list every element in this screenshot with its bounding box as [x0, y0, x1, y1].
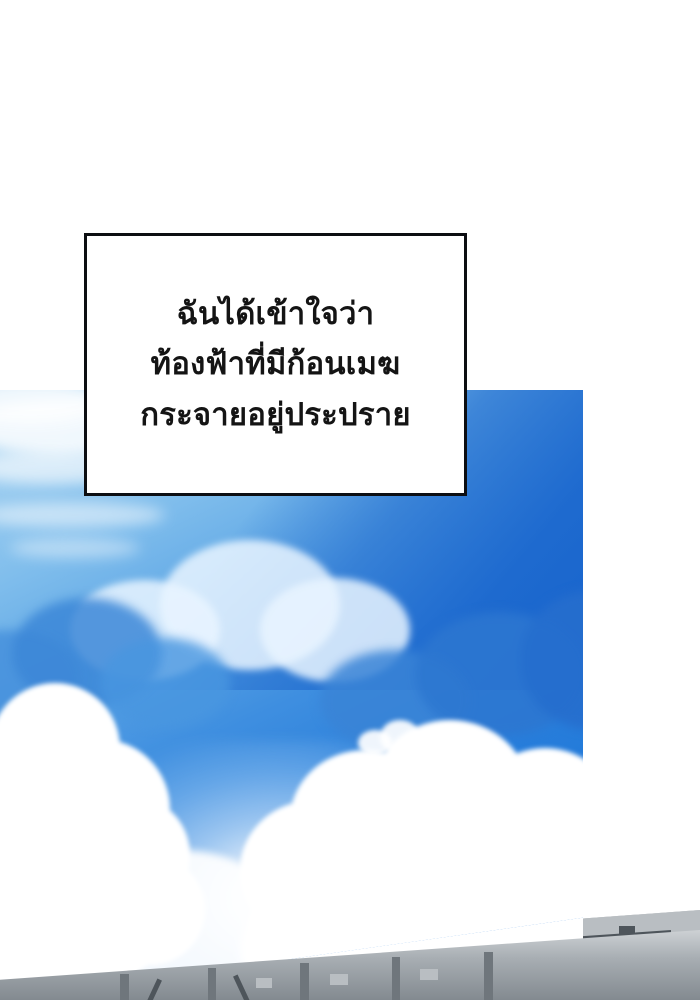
narration-text: ฉันได้เข้าใจว่า ท้องฟ้าที่มีก้อนเมฆ กระจ…	[140, 289, 410, 440]
construction-panel	[583, 900, 700, 1000]
small-cloud-puff	[430, 950, 520, 994]
vertical-column	[607, 940, 616, 1000]
construction-artwork	[583, 900, 700, 1000]
small-cloud-puff	[8, 938, 128, 978]
cloud-puff-bottom-right	[455, 975, 583, 1000]
narration-line-3: กระจายอยู่ประปราย	[140, 390, 410, 440]
horizontal-beam	[583, 940, 700, 959]
wall-section	[583, 962, 605, 1000]
vertical-column	[484, 952, 493, 1000]
panel-face	[256, 978, 272, 988]
diagonal-brace	[233, 975, 252, 1000]
panel-face	[420, 969, 438, 980]
vertical-column	[208, 968, 216, 1000]
panel-face	[330, 974, 348, 985]
vertical-column	[300, 963, 309, 1000]
narration-text-box: ฉันได้เข้าใจว่า ท้องฟ้าที่มีก้อนเมฆ กระจ…	[84, 233, 467, 496]
small-cloud-puff	[120, 910, 200, 946]
narration-line-2: ท้องฟ้าที่มีก้อนเมฆ	[140, 339, 410, 389]
vertical-column	[392, 957, 400, 1000]
small-cloud-puff	[300, 962, 370, 996]
narration-line-1: ฉันได้เข้าใจว่า	[140, 289, 410, 339]
small-cloud-puff	[358, 720, 428, 760]
diagonal-brace	[143, 979, 162, 1000]
panel-face	[671, 916, 700, 938]
small-fitting	[619, 926, 635, 935]
comic-page: ฉันได้เข้าใจว่า ท้องฟ้าที่มีก้อนเมฆ กระจ…	[0, 0, 700, 1000]
